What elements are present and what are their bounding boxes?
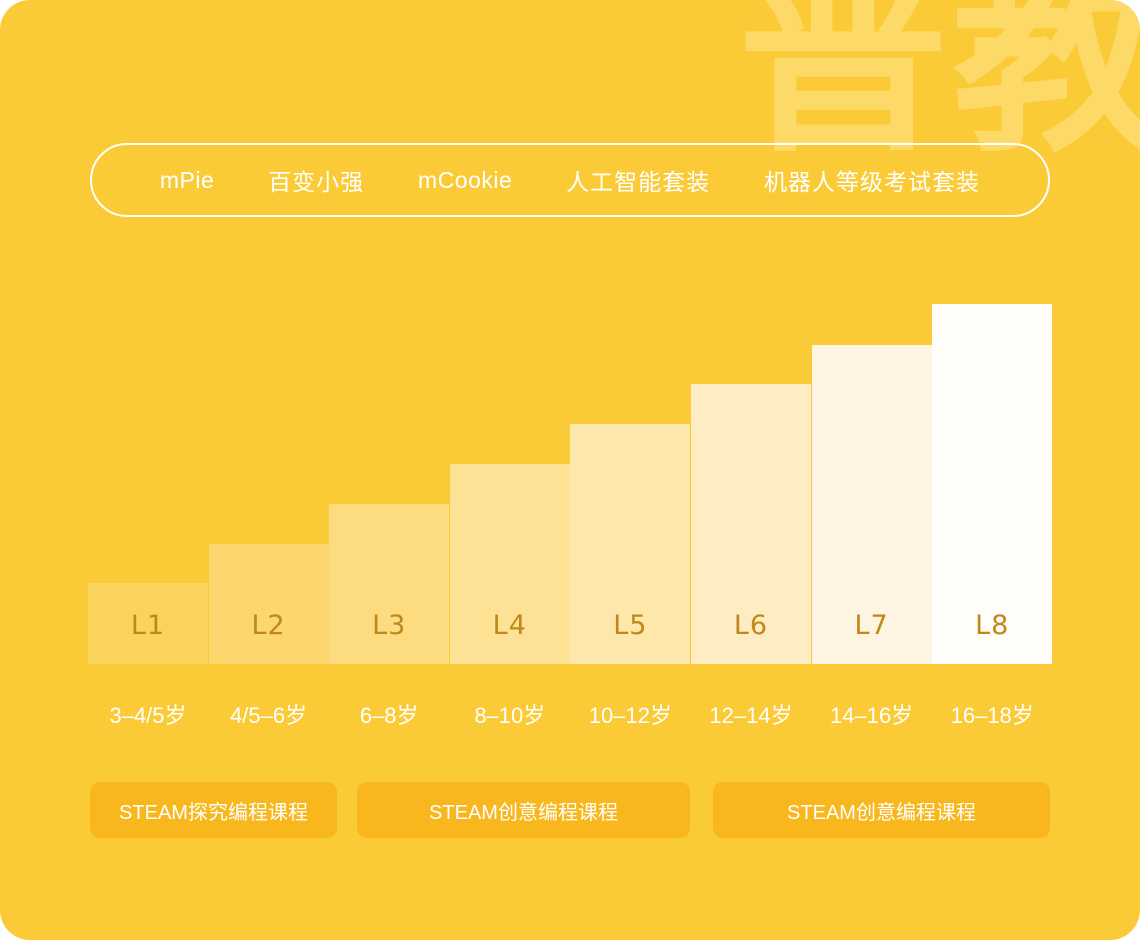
course-chip-3[interactable]: STEAM创意编程课程 bbox=[713, 782, 1050, 838]
bar-column[interactable]: L6 bbox=[691, 384, 811, 665]
course-chip-1[interactable]: STEAM探究编程课程 bbox=[90, 782, 337, 838]
watermark-text: 普教 bbox=[738, 0, 1140, 164]
product-pill-bar: mPie 百变小强 mCookie 人工智能套装 机器人等级考试套装 bbox=[90, 143, 1050, 217]
bar-l3[interactable]: L3 bbox=[329, 504, 449, 665]
bar-l7[interactable]: L7 bbox=[812, 345, 932, 665]
course-chip-2[interactable]: STEAM创意编程课程 bbox=[357, 782, 690, 838]
bar-column[interactable]: L7 bbox=[812, 345, 932, 665]
bar-l4[interactable]: L4 bbox=[450, 464, 570, 665]
bar-l6[interactable]: L6 bbox=[691, 384, 811, 665]
product-item-robot-exam-kit[interactable]: 机器人等级考试套装 bbox=[764, 163, 980, 197]
age-range-label: 10–12岁 bbox=[570, 698, 690, 730]
bar-column[interactable]: L5 bbox=[570, 424, 690, 665]
age-label-row: 3–4/5岁4/5–6岁6–8岁8–10岁10–12岁12–14岁14–16岁1… bbox=[88, 698, 1052, 734]
age-range-label: 6–8岁 bbox=[329, 698, 449, 730]
product-item-mcookie[interactable]: mCookie bbox=[418, 167, 512, 194]
age-range-label: 4/5–6岁 bbox=[209, 698, 329, 730]
bar-column[interactable]: L1 bbox=[88, 583, 208, 665]
course-level-card: 普教 mPie 百变小强 mCookie 人工智能套装 机器人等级考试套装 L1… bbox=[0, 0, 1140, 940]
bar-column[interactable]: L2 bbox=[209, 544, 329, 665]
age-range-label: 8–10岁 bbox=[450, 698, 570, 730]
product-item-ai-kit[interactable]: 人工智能套装 bbox=[566, 163, 710, 197]
bar-column[interactable]: L4 bbox=[450, 464, 570, 665]
bar-l1[interactable]: L1 bbox=[88, 583, 208, 665]
bar-level-label: L7 bbox=[854, 610, 888, 665]
age-range-label: 3–4/5岁 bbox=[88, 698, 208, 730]
bar-level-label: L4 bbox=[493, 610, 527, 665]
age-range-label: 16–18岁 bbox=[932, 698, 1052, 730]
bar-level-label: L5 bbox=[613, 610, 647, 665]
bar-column[interactable]: L8 bbox=[932, 304, 1052, 665]
product-item-baibianxiaoqiang[interactable]: 百变小强 bbox=[268, 163, 364, 197]
product-item-mpie[interactable]: mPie bbox=[160, 167, 214, 194]
age-range-label: 12–14岁 bbox=[691, 698, 811, 730]
bar-level-label: L2 bbox=[251, 610, 285, 665]
bar-l5[interactable]: L5 bbox=[570, 424, 690, 665]
bar-column[interactable]: L3 bbox=[329, 504, 449, 665]
level-bar-chart: L1L2L3L4L5L6L7L8 bbox=[88, 295, 1052, 665]
bar-l2[interactable]: L2 bbox=[209, 544, 329, 665]
bar-level-label: L8 bbox=[975, 610, 1009, 665]
bar-l8[interactable]: L8 bbox=[932, 304, 1052, 665]
age-range-label: 14–16岁 bbox=[812, 698, 932, 730]
bar-level-label: L1 bbox=[131, 610, 165, 665]
chart-baseline bbox=[88, 664, 1052, 667]
bar-level-label: L6 bbox=[734, 610, 768, 665]
course-chip-row: STEAM探究编程课程STEAM创意编程课程STEAM创意编程课程 bbox=[90, 782, 1050, 838]
bar-level-label: L3 bbox=[372, 610, 406, 665]
